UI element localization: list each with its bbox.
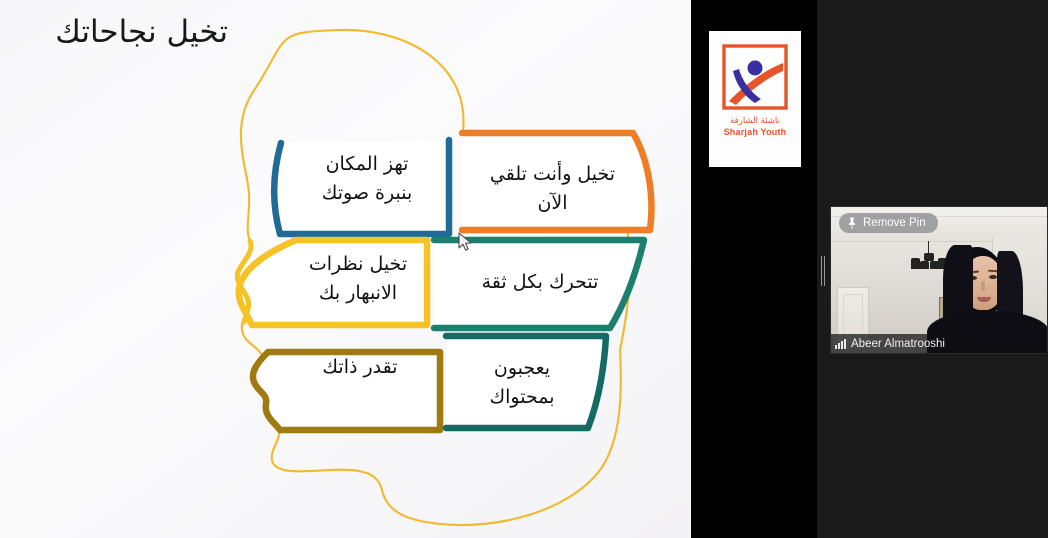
participant-name-bar: Abeer Almatrooshi: [831, 334, 979, 353]
drag-handle-line: [821, 256, 822, 286]
remove-pin-button[interactable]: Remove Pin: [839, 213, 938, 233]
remove-pin-label: Remove Pin: [863, 217, 926, 229]
participant-name-label: Abeer Almatrooshi: [851, 338, 945, 350]
pin-icon: [847, 217, 857, 230]
sharjah-youth-logo: ناشئة الشارقة Sharjah Youth: [709, 31, 801, 167]
zoom-meeting-screen: تخيل نجاحاتك: [0, 0, 1048, 538]
head-infographic: تهز المكان بنبرة صوتك تخيل وأنت تلقي الآ…: [0, 0, 691, 538]
segment-bottom-right-shape[interactable]: [446, 336, 606, 428]
logo-english-text: Sharjah Youth: [724, 127, 787, 137]
logo-side-panel: ناشئة الشارقة Sharjah Youth: [691, 0, 817, 538]
participant-video-tile[interactable]: Remove Pin Abeer Almatrooshi: [830, 206, 1048, 354]
head-diagram-svg: [0, 0, 691, 538]
eye-right: [989, 275, 997, 279]
video-panel-drag-handle[interactable]: [819, 255, 827, 287]
sharjah-youth-logo-icon: [719, 41, 791, 113]
drag-handle-line: [824, 256, 825, 286]
chandelier-icon: [911, 253, 947, 270]
person-nose: [981, 281, 985, 291]
segment-middle-right-shape[interactable]: [434, 240, 644, 328]
segment-top-left-shape[interactable]: [274, 140, 449, 234]
signal-bars-icon: [835, 339, 846, 349]
segment-bottom-left-shape[interactable]: [253, 352, 440, 430]
segment-top-right-shape[interactable]: [462, 133, 651, 230]
segment-middle-left-shape[interactable]: [239, 240, 427, 325]
logo-arabic-text: ناشئة الشارقة: [730, 116, 780, 126]
shared-screen-slide: تخيل نجاحاتك: [0, 0, 691, 538]
